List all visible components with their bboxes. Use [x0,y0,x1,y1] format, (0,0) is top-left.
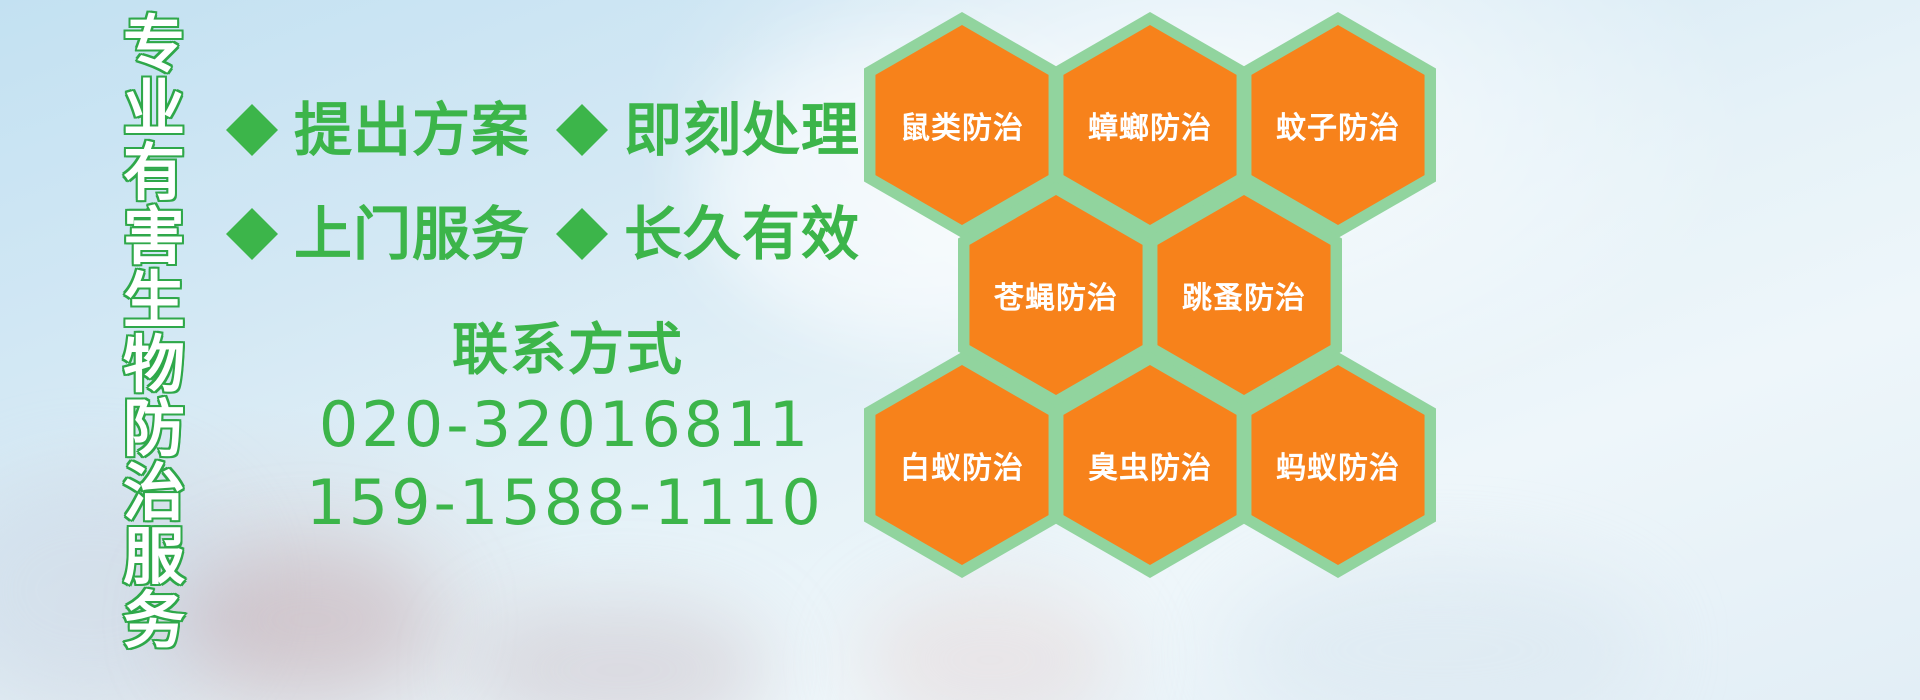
background-blob-bottom-left [180,545,440,695]
service-hex-label: 臭虫防治 [1052,352,1248,578]
background-blob-bottom-right [1230,560,1650,700]
diamond-bullet-icon [556,78,608,130]
vertical-slogan-char: 业 [123,78,185,140]
feature-item-door-to-door-service: 上门服务 [226,205,530,263]
vertical-slogan-char: 专 [123,14,185,76]
vertical-slogan-char: 务 [123,590,185,652]
feature-item-long-lasting-effect: 长久有效 [556,205,860,263]
vertical-slogan-char: 生 [123,270,185,332]
service-honeycomb: 鼠类防治 蟑螂防治 蚊子防治 苍蝇防治 跳蚤防治 白蚁防治 [856,0,1476,560]
feature-label: 上门服务 [294,205,530,263]
service-hex-label: 蚂蚁防治 [1240,352,1436,578]
service-hex-label: 白蚁防治 [864,352,1060,578]
service-hex-termite[interactable]: 白蚁防治 [864,352,1060,578]
service-hex-bedbug[interactable]: 臭虫防治 [1052,352,1248,578]
feature-item-immediate-handling: 即刻处理 [556,101,860,159]
background-blob-bottom-mid [860,585,1120,700]
contact-block: 联系方式 020-32016811 159-1588-1110 [300,316,830,542]
diamond-bullet-icon [556,182,608,234]
vertical-slogan-char: 物 [123,334,185,396]
background-blob-bottom-center [470,600,770,700]
feature-label: 提出方案 [294,101,530,159]
feature-row: 上门服务 长久有效 [226,182,876,286]
feature-list: 提出方案 即刻处理 上门服务 长久有效 [226,78,876,286]
feature-row: 提出方案 即刻处理 [226,78,876,182]
vertical-slogan-char: 害 [123,206,185,268]
feature-item-propose-plan: 提出方案 [226,101,530,159]
contact-phone-landline[interactable]: 020-32016811 [300,386,830,464]
diamond-bullet-icon [226,78,278,130]
vertical-slogan-char: 防 [123,398,185,460]
contact-phone-mobile[interactable]: 159-1588-1110 [300,464,830,542]
feature-label: 长久有效 [624,205,860,263]
vertical-slogan-char: 治 [123,462,185,524]
vertical-slogan-char: 服 [123,526,185,588]
diamond-bullet-icon [226,182,278,234]
service-hex-ant[interactable]: 蚂蚁防治 [1240,352,1436,578]
vertical-slogan: 专 业 有 害 生 物 防 治 服 务 [108,14,200,574]
promo-banner: 专 业 有 害 生 物 防 治 服 务 提出方案 即刻处理 上门服务 [0,0,1920,700]
contact-title: 联系方式 [306,316,830,386]
vertical-slogan-char: 有 [123,142,185,204]
feature-label: 即刻处理 [624,101,860,159]
